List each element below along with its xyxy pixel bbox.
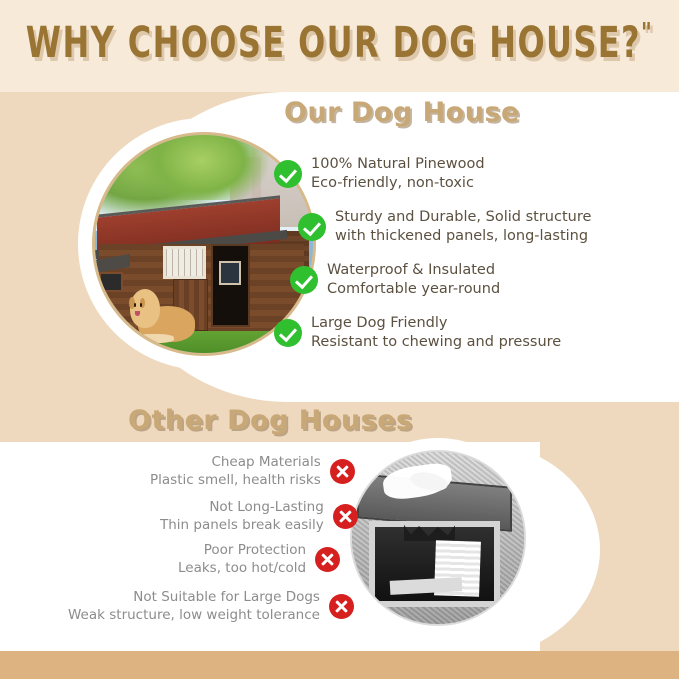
pro-line-1: Sturdy and Durable, Solid structure <box>335 209 591 225</box>
con-line-1: Not Suitable for Large Dogs <box>133 589 320 605</box>
check-icon <box>274 160 302 188</box>
pro-line-2: Eco-friendly, non-toxic <box>311 175 474 191</box>
x-icon <box>329 594 354 619</box>
pro-line-1: Waterproof & Insulated <box>327 262 495 278</box>
con-line-2: Weak structure, low weight tolerance <box>68 607 320 623</box>
con-item: Cheap Materials Plastic smell, health ri… <box>150 453 355 489</box>
con-line-1: Cheap Materials <box>211 454 320 470</box>
bad-section-heading: Other Dog Houses <box>128 405 413 436</box>
good-section-heading: Our Dog House <box>284 97 520 128</box>
dog-head <box>130 289 160 328</box>
pro-text: Sturdy and Durable, Solid structure with… <box>335 208 591 246</box>
pro-text: 100% Natural Pinewood Eco-friendly, non-… <box>311 155 485 193</box>
door-window <box>219 261 241 285</box>
con-line-1: Not Long-Lasting <box>209 499 323 515</box>
pro-text: Waterproof & Insulated Comfortable year-… <box>327 261 500 299</box>
con-text: Not Suitable for Large Dogs Weak structu… <box>68 588 320 624</box>
pro-line-1: Large Dog Friendly <box>311 315 447 331</box>
page-title: WHY CHOOSE OUR DOG HOUSE?" <box>20 18 658 68</box>
bad-dog-house-photo <box>350 450 526 626</box>
dog-eye-right <box>140 303 142 307</box>
con-line-2: Leaks, too hot/cold <box>178 560 306 576</box>
dog-paws <box>135 334 174 343</box>
con-item: Poor Protection Leaks, too hot/cold <box>178 541 340 577</box>
pro-line-2: Comfortable year-round <box>327 281 500 297</box>
dog-house-door <box>211 244 250 327</box>
pro-line-1: 100% Natural Pinewood <box>311 156 485 172</box>
dog-eye-left <box>134 303 136 307</box>
con-line-2: Plastic smell, health risks <box>150 472 321 488</box>
pro-item: Waterproof & Insulated Comfortable year-… <box>290 261 500 299</box>
con-text: Poor Protection Leaks, too hot/cold <box>178 541 306 577</box>
page-title-text: WHY CHOOSE OUR DOG HOUSE? <box>26 18 641 68</box>
pro-item: 100% Natural Pinewood Eco-friendly, non-… <box>274 155 485 193</box>
pro-line-2: Resistant to chewing and pressure <box>311 334 561 350</box>
check-icon <box>274 319 302 347</box>
dog-house-window <box>163 246 207 279</box>
x-icon <box>330 459 355 484</box>
pro-item: Sturdy and Durable, Solid structure with… <box>298 208 591 246</box>
pro-line-2: with thickened panels, long-lasting <box>335 228 588 244</box>
window-grille <box>166 249 204 276</box>
con-text: Cheap Materials Plastic smell, health ri… <box>150 453 321 489</box>
check-icon <box>298 213 326 241</box>
golden-retriever-dog <box>130 277 195 342</box>
willow-tree-right <box>134 132 269 200</box>
bottom-tan-band <box>0 651 679 679</box>
title-quote-mark: " <box>641 18 653 49</box>
x-icon <box>333 504 358 529</box>
comparison-poster: WHY CHOOSE OUR DOG HOUSE?" Our Dog House <box>0 0 679 679</box>
con-item: Not Long-Lasting Thin panels break easil… <box>160 498 358 534</box>
con-item: Not Suitable for Large Dogs Weak structu… <box>68 588 354 624</box>
check-icon <box>290 266 318 294</box>
pro-text: Large Dog Friendly Resistant to chewing … <box>311 314 561 352</box>
con-text: Not Long-Lasting Thin panels break easil… <box>160 498 324 534</box>
dog-mouth <box>135 311 140 316</box>
con-line-2: Thin panels break easily <box>160 517 324 533</box>
pro-item: Large Dog Friendly Resistant to chewing … <box>274 314 561 352</box>
con-line-1: Poor Protection <box>204 542 306 558</box>
side-window <box>99 272 123 292</box>
x-icon <box>315 547 340 572</box>
